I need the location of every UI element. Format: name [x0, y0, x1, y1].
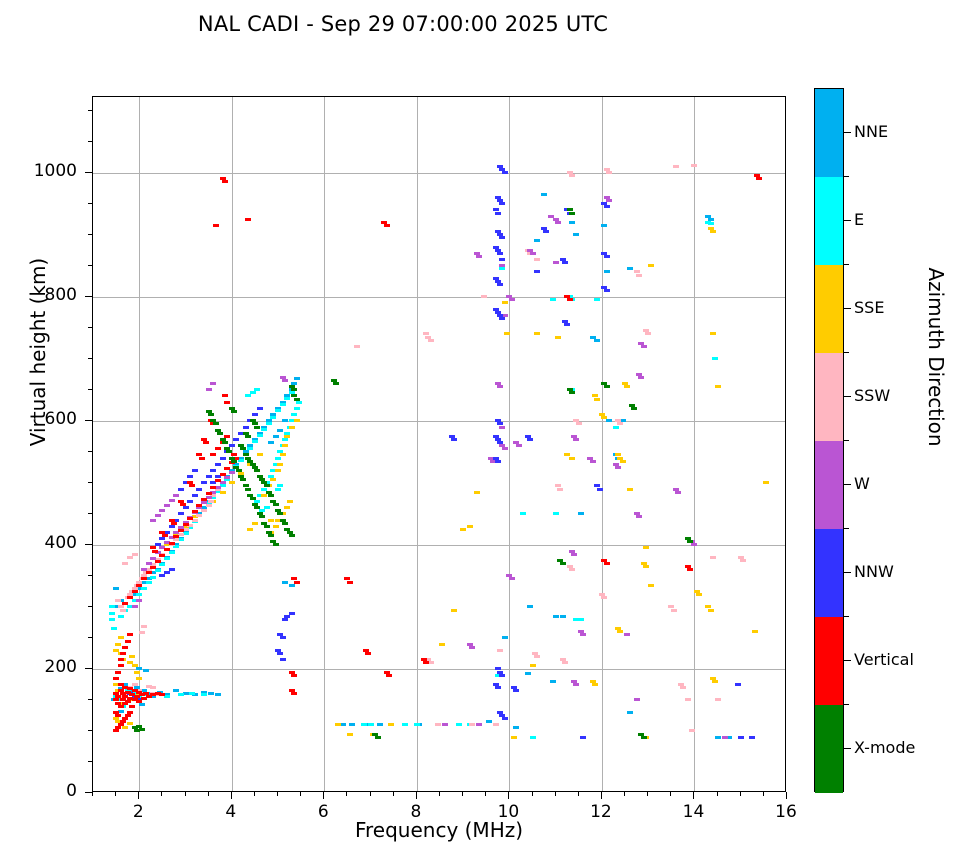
scatter-point [169, 499, 175, 502]
scatter-point [264, 484, 270, 487]
y-tick-minor [88, 637, 92, 638]
scatter-point [580, 736, 586, 739]
scatter-point [250, 391, 256, 394]
scatter-point [280, 453, 286, 456]
scatter-point [294, 419, 300, 422]
colorbar-boundary-tick [844, 528, 849, 529]
scatter-point [474, 491, 480, 494]
scatter-point [183, 506, 189, 509]
scatter-point [560, 562, 566, 565]
scatter-point [192, 469, 198, 472]
scatter-point [502, 171, 508, 174]
scatter-point [502, 301, 508, 304]
scatter-point [673, 165, 679, 168]
scatter-point [141, 577, 147, 580]
scatter-point [155, 560, 161, 563]
scatter-point [173, 689, 179, 692]
scatter-point [143, 669, 149, 672]
scatter-point [215, 463, 221, 466]
scatter-point [268, 534, 274, 537]
scatter-point [150, 519, 156, 522]
scatter-point [273, 543, 279, 546]
scatter-point [499, 426, 505, 429]
scatter-point [499, 258, 505, 261]
scatter-point [451, 438, 457, 441]
x-tick-minor [578, 792, 579, 796]
scatter-point [109, 618, 115, 621]
scatter-point [708, 609, 714, 612]
scatter-point [277, 484, 283, 487]
scatter-point [617, 422, 623, 425]
scatter-point [125, 640, 131, 643]
scatter-point [576, 422, 582, 425]
scatter-point [604, 205, 610, 208]
scatter-point [594, 398, 600, 401]
scatter-point [268, 494, 274, 497]
scatter-point [224, 401, 230, 404]
scatter-point [685, 698, 691, 701]
scatter-point [499, 264, 505, 267]
scatter-point [277, 652, 283, 655]
scatter-point [497, 441, 503, 444]
scatter-point [111, 627, 117, 630]
scatter-point [740, 559, 746, 562]
scatter-point [715, 385, 721, 388]
scatter-point [738, 736, 744, 739]
scatter-point [162, 534, 168, 537]
scatter-point [509, 577, 515, 580]
scatter-point [347, 733, 353, 736]
scatter-point [118, 636, 124, 639]
colorbar-boundary-tick [844, 352, 849, 353]
scatter-point [164, 557, 170, 560]
scatter-point [213, 422, 219, 425]
scatter-point [109, 605, 115, 608]
colorbar-tick [844, 572, 851, 573]
scatter-point [159, 693, 165, 696]
scatter-point [493, 723, 499, 726]
scatter-point [641, 345, 647, 348]
scatter-point [196, 504, 202, 507]
scatter-point [206, 388, 212, 391]
scatter-point [499, 202, 505, 205]
scatter-point [275, 457, 281, 460]
scatter-point [495, 212, 501, 215]
y-tick-minor [88, 141, 92, 142]
scatter-point [550, 298, 556, 301]
scatter-point [708, 222, 714, 225]
scatter-point [456, 723, 462, 726]
scatter-point [335, 723, 341, 726]
y-axis-label: Virtual height (km) [26, 222, 50, 482]
colorbar-boundary-tick [844, 264, 849, 265]
scatter-point [282, 444, 288, 447]
scatter-point [257, 407, 263, 410]
scatter-point [604, 562, 610, 565]
scatter-point [150, 576, 156, 579]
scatter-point [113, 729, 119, 732]
scatter-point [715, 698, 721, 701]
y-tick-minor [88, 451, 92, 452]
scatter-point [617, 630, 623, 633]
scatter-point [495, 460, 501, 463]
scatter-point [257, 453, 263, 456]
y-tick-minor [88, 327, 92, 328]
y-tick-major [85, 172, 92, 173]
scatter-point [222, 441, 228, 444]
scatter-point [530, 736, 536, 739]
scatter-point [592, 683, 598, 686]
colorbar-segment-w[interactable] [815, 441, 843, 529]
colorbar-segment-sse[interactable] [815, 265, 843, 353]
scatter-point [139, 631, 145, 634]
scatter-point [675, 491, 681, 494]
scatter-point [648, 584, 654, 587]
scatter-point [384, 224, 390, 227]
scatter-point [294, 407, 300, 410]
scatter-point [451, 609, 457, 612]
scatter-point [354, 345, 360, 348]
scatter-point [127, 722, 133, 725]
scatter-point [620, 460, 626, 463]
scatter-point [680, 686, 686, 689]
scatter-point [152, 550, 158, 553]
x-tick-major [323, 792, 324, 799]
scatter-point [499, 267, 505, 270]
colorbar-segment-nnw[interactable] [815, 529, 843, 617]
scatter-point [497, 283, 503, 286]
scatter-point [476, 723, 482, 726]
colorbar-segment-ssw[interactable] [815, 353, 843, 441]
scatter-point [277, 429, 283, 432]
y-tick-minor [88, 699, 92, 700]
scatter-point [534, 239, 540, 242]
scatter-point [347, 581, 353, 584]
scatter-point [638, 376, 644, 379]
scatter-point [273, 435, 279, 438]
scatter-point [268, 441, 274, 444]
scatter-point [115, 714, 121, 717]
scatter-point [120, 652, 126, 655]
scatter-point [245, 218, 251, 221]
scatter-point [252, 522, 258, 525]
scatter-point [460, 528, 466, 531]
scatter-point [139, 728, 145, 731]
scatter-point [213, 224, 219, 227]
scatter-point [146, 581, 152, 584]
scatter-point [155, 514, 161, 517]
scatter-point [122, 562, 128, 565]
scatter-point [127, 596, 133, 599]
x-tick-minor [439, 792, 440, 796]
y-tick-minor [88, 575, 92, 576]
x-tick-major [138, 792, 139, 799]
scatter-point [294, 398, 300, 401]
colorbar-tick [844, 660, 851, 661]
scatter-point [580, 633, 586, 636]
scatter-point [187, 517, 193, 520]
scatter-point [115, 671, 121, 674]
scatter-point [712, 680, 718, 683]
scatter-point [252, 440, 258, 443]
scatter-point [187, 500, 193, 503]
scatter-point [296, 401, 302, 404]
scatter-point [254, 469, 260, 472]
scatter-point [139, 703, 145, 706]
scatter-point [691, 543, 697, 546]
scatter-point [159, 509, 165, 512]
scatter-point [624, 385, 630, 388]
y-tick-minor [88, 110, 92, 111]
scatter-point [486, 720, 492, 723]
colorbar-tick [844, 484, 851, 485]
scatter-point [210, 486, 216, 489]
scatter-point [597, 488, 603, 491]
scatter-point [264, 525, 270, 528]
scatter-point [569, 174, 575, 177]
scatter-point [289, 426, 295, 429]
scatter-point [560, 615, 566, 618]
x-tick-minor [161, 792, 162, 796]
scatter-point [428, 339, 434, 342]
scatter-point [282, 618, 288, 621]
scatter-point [155, 569, 161, 572]
scatter-point [604, 270, 610, 273]
scatter-point [280, 658, 286, 661]
y-tick-label: 200 [7, 657, 77, 677]
scatter-point [569, 212, 575, 215]
colorbar-tick-label: NNE [854, 122, 888, 141]
scatter-point [497, 252, 503, 255]
scatter-point [150, 566, 156, 569]
scatter-point [562, 661, 568, 664]
scatter-point [220, 491, 226, 494]
scatter-point [259, 515, 265, 518]
scatter-point [169, 525, 175, 528]
scatter-point [534, 655, 540, 658]
scatter-point [136, 593, 142, 596]
scatter-point [562, 261, 568, 264]
y-tick-minor [88, 234, 92, 235]
scatter-point [277, 512, 283, 515]
scatter-point [710, 332, 716, 335]
colorbar-boundary-tick [844, 440, 849, 441]
colorbar-tick [844, 308, 851, 309]
scatter-point [402, 723, 408, 726]
scatter-point [578, 512, 584, 515]
colorbar-tick-label: E [854, 210, 864, 229]
scatter-point [578, 618, 584, 621]
colorbar-tick-label: SSE [854, 298, 884, 317]
scatter-point [192, 494, 198, 497]
scatter-point [712, 357, 718, 360]
scatter-point [183, 523, 189, 526]
scatter-point [641, 736, 647, 739]
scatter-point [601, 596, 607, 599]
scatter-point [627, 488, 633, 491]
scatter-point [627, 711, 633, 714]
scatter-point [220, 457, 226, 460]
scatter-point [571, 553, 577, 556]
scatter-point [497, 422, 503, 425]
scatter-point [735, 683, 741, 686]
scatter-point [481, 295, 487, 298]
colorbar-tick-label: W [854, 474, 870, 493]
scatter-point [689, 729, 695, 732]
scatter-point [497, 649, 503, 652]
scatter-point [282, 379, 288, 382]
scatter-point [178, 488, 184, 491]
scatter-point [169, 542, 175, 545]
scatter-point [502, 636, 508, 639]
scatter-point [435, 723, 441, 726]
scatter-point [687, 568, 693, 571]
scatter-point [141, 625, 147, 628]
scatter-point [178, 529, 184, 532]
scatter-point [569, 221, 575, 224]
scatter-point [365, 652, 371, 655]
scatter-point [289, 534, 295, 537]
colorbar-label: Azimuth Direction [924, 227, 948, 487]
colorbar-segment-nne[interactable] [815, 89, 843, 177]
scatter-point [594, 339, 600, 342]
x-tick-major [693, 792, 694, 799]
scatter-point [291, 692, 297, 695]
scatter-point [530, 664, 536, 667]
scatter-point [752, 630, 758, 633]
scatter-point [201, 693, 207, 696]
scatter-point [118, 664, 124, 667]
scatter-point [377, 723, 383, 726]
scatter-point [118, 705, 124, 708]
scatter-point [164, 571, 170, 574]
colorbar-tick-label: NNW [854, 562, 894, 581]
x-axis-label: Frequency (MHz) [92, 818, 786, 842]
scatter-point [136, 599, 142, 602]
scatter-point [722, 736, 728, 739]
x-tick-major [508, 792, 509, 799]
scatter-point [643, 565, 649, 568]
x-tick-minor [532, 792, 533, 796]
scatter-point [159, 574, 165, 577]
scatter-point [115, 643, 121, 646]
scatter-point [222, 180, 228, 183]
y-tick-minor [88, 482, 92, 483]
scatter-point [113, 587, 119, 590]
scatter-point [284, 435, 290, 438]
scatter-point [499, 317, 505, 320]
scatter-point [208, 692, 214, 695]
scatter-point [240, 447, 246, 450]
scatter-point [132, 553, 138, 556]
y-tick-major [85, 296, 92, 297]
scatter-point [215, 447, 221, 450]
scatter-point [499, 236, 505, 239]
x-tick-major [786, 792, 787, 799]
colorbar-tick [844, 220, 851, 221]
scatter-point [499, 674, 505, 677]
scatter-point [502, 717, 508, 720]
scatter-point [122, 602, 128, 605]
scatter-point [196, 488, 202, 491]
x-tick-minor [185, 792, 186, 796]
scatter-point [467, 525, 473, 528]
scatter-point [208, 413, 214, 416]
scatter-point [257, 434, 263, 437]
scatter-point [631, 407, 637, 410]
scatter-point [604, 289, 610, 292]
scatter-point [226, 450, 232, 453]
scatter-point [189, 692, 195, 695]
scatter-point [423, 661, 429, 664]
scatter-point [511, 736, 517, 739]
colorbar[interactable] [814, 88, 844, 792]
colorbar-tick [844, 396, 851, 397]
scatter-point [520, 512, 526, 515]
scatter-point [569, 457, 575, 460]
scatter-point [261, 428, 267, 431]
scatter-point [210, 469, 216, 472]
scatter-point [550, 680, 556, 683]
colorbar-segment-vertical[interactable] [815, 617, 843, 705]
x-tick-minor [555, 792, 556, 796]
scatter-point [569, 391, 575, 394]
colorbar-segment-e[interactable] [815, 177, 843, 265]
scatter-point [134, 671, 140, 674]
scatter-point [516, 444, 522, 447]
scatter-point [127, 633, 133, 636]
scatter-point [687, 540, 693, 543]
scatter-point [573, 233, 579, 236]
colorbar-segment-x-mode[interactable] [815, 705, 843, 793]
scatter-point [229, 481, 235, 484]
scatter-point [476, 255, 482, 258]
ionogram-plot-page: NAL CADI - Sep 29 07:00:00 2025 UTC 2468… [0, 0, 958, 857]
scatter-point [613, 426, 619, 429]
scatter-point [222, 394, 228, 397]
y-tick-minor [88, 730, 92, 731]
scatter-point [691, 164, 697, 167]
scatter-point [266, 422, 272, 425]
scatter-point [243, 426, 249, 429]
scatter-point [122, 717, 128, 720]
y-tick-minor [88, 389, 92, 390]
scatter-point [294, 377, 300, 380]
scatter-point [534, 332, 540, 335]
scatter-point [282, 522, 288, 525]
scatter-point [159, 537, 165, 540]
y-tick-minor [88, 358, 92, 359]
plot-area[interactable] [92, 96, 786, 792]
scatter-point [573, 438, 579, 441]
scatter-point [497, 385, 503, 388]
scatter-point [254, 388, 260, 391]
scatter-point [201, 481, 207, 484]
scatter-point [254, 426, 260, 429]
scatter-point [208, 500, 214, 503]
scatter-point [594, 298, 600, 301]
scatter-point [203, 441, 209, 444]
scatter-point [159, 554, 165, 557]
x-tick-minor [624, 792, 625, 796]
scatter-point [210, 382, 216, 385]
scatter-point [189, 484, 195, 487]
y-tick-label: 1000 [7, 161, 77, 181]
scatter-point [275, 469, 281, 472]
scatter-point [573, 683, 579, 686]
y-tick-label: 0 [7, 781, 77, 801]
colorbar-tick [844, 132, 851, 133]
